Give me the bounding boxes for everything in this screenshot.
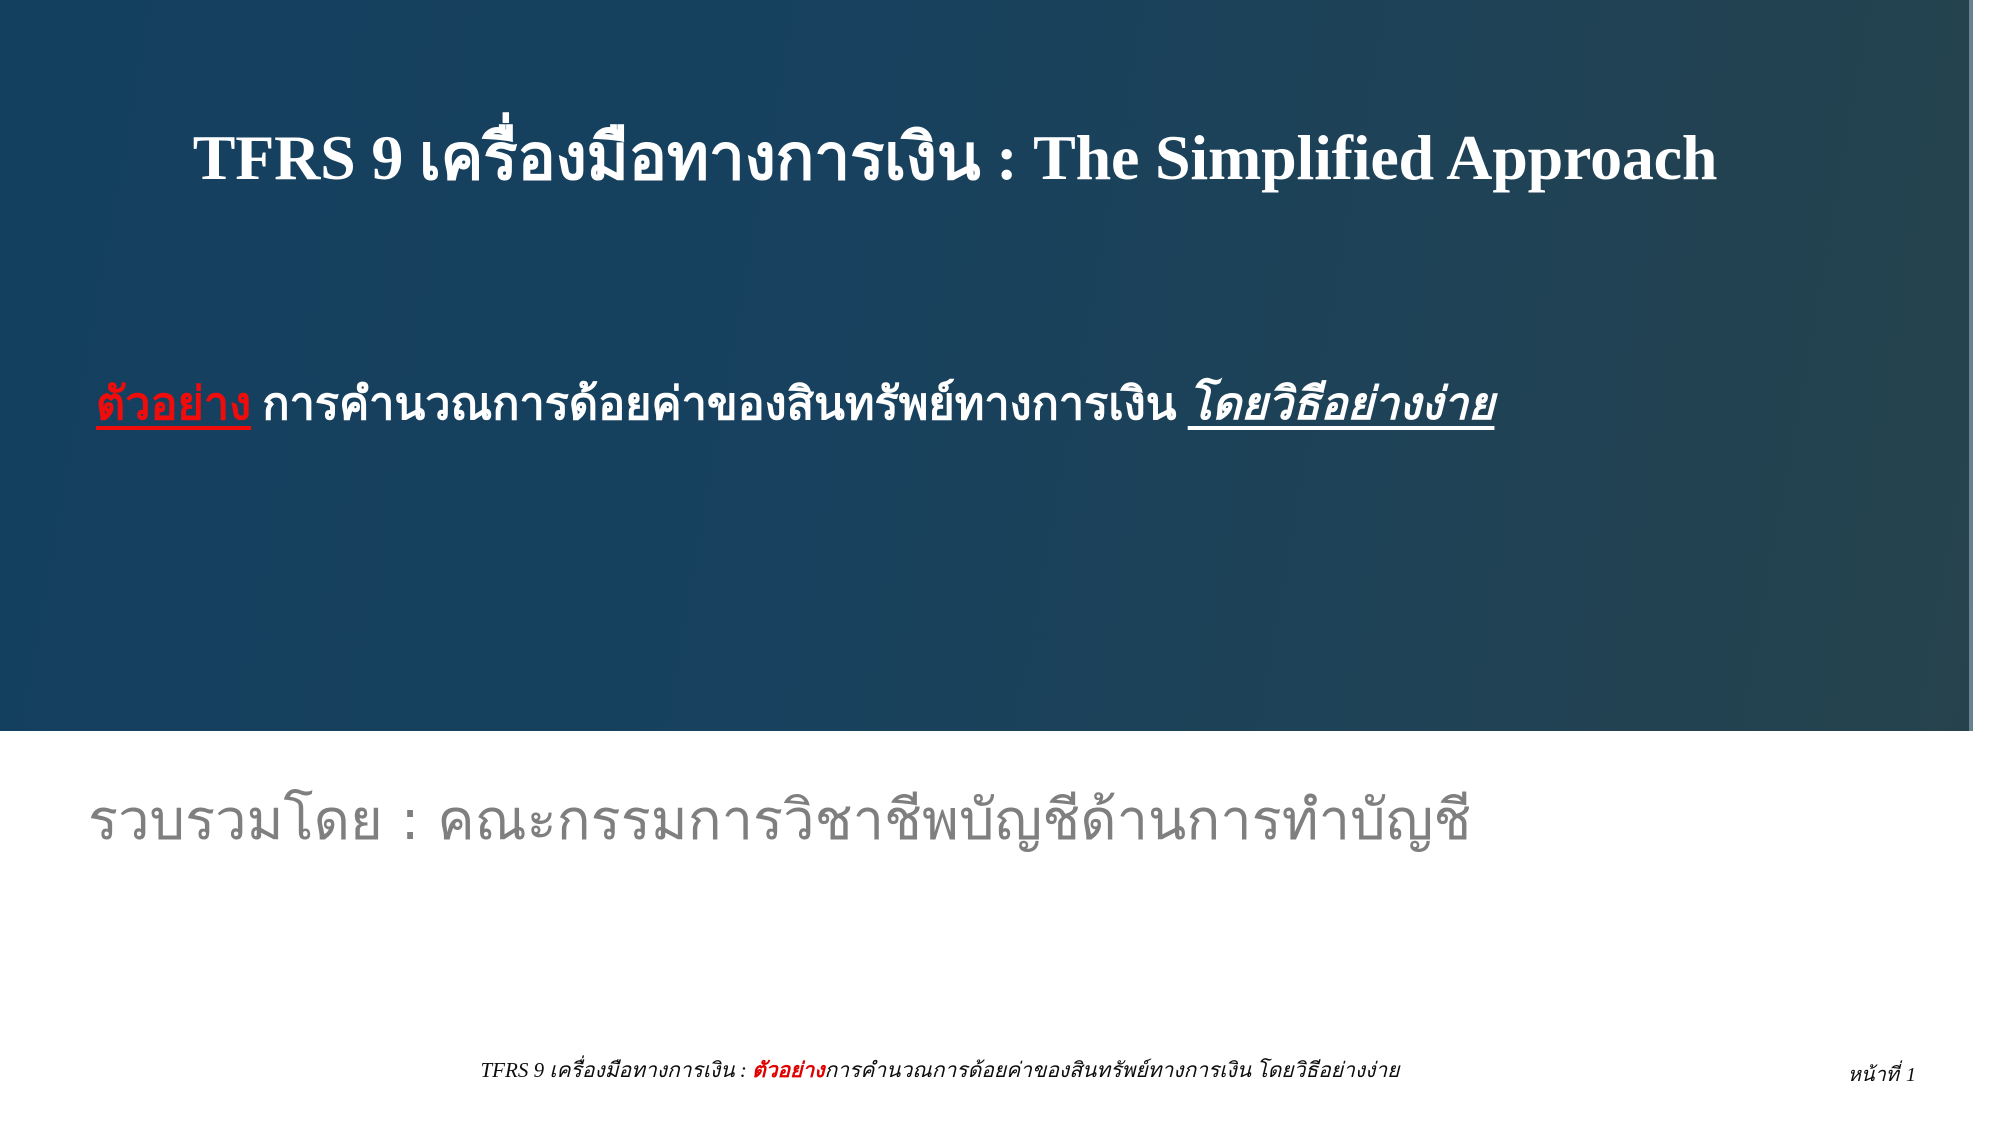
slide-title: TFRS 9 เครื่องมือทางการเงิน : The Simpli… xyxy=(60,122,1850,194)
footer-suffix: การคำนวณการด้อยค่าของสินทรัพย์ทางการเงิน… xyxy=(825,1058,1400,1082)
banner-right-edge-divider xyxy=(1969,0,1973,731)
title-banner-background xyxy=(0,0,1973,731)
footer-note: TFRS 9 เครื่องมือทางการเงิน : ตัวอย่างกา… xyxy=(300,1056,1580,1085)
subtitle-emphasis-method: โดยวิธีอย่างง่าย xyxy=(1188,379,1495,429)
page-number-label: หน้าที่ xyxy=(1848,1064,1899,1086)
slide-subtitle: ตัวอย่าง การคำนวณการด้อยค่าของสินทรัพย์ท… xyxy=(60,376,1910,432)
slide-footer: TFRS 9 เครื่องมือทางการเงิน : ตัวอย่างกา… xyxy=(0,1056,2000,1100)
footer-prefix: TFRS 9 เครื่องมือทางการเงิน : xyxy=(481,1058,753,1082)
slide-body-compiled-by: รวบรวมโดย : คณะกรรมการวิชาชีพบัญชีด้านกา… xyxy=(60,786,1910,856)
slide-canvas: TFRS 9 เครื่องมือทางการเงิน : The Simpli… xyxy=(0,0,2000,1125)
page-number-value: 1 xyxy=(1899,1064,1916,1086)
subtitle-highlight-example: ตัวอย่าง xyxy=(96,379,251,429)
subtitle-main-text: การคำนวณการด้อยค่าของสินทรัพย์ทางการเงิน xyxy=(251,379,1188,429)
page-number-group: หน้าที่1 xyxy=(1848,1058,1916,1090)
footer-highlight-example: ตัวอย่าง xyxy=(752,1058,824,1082)
